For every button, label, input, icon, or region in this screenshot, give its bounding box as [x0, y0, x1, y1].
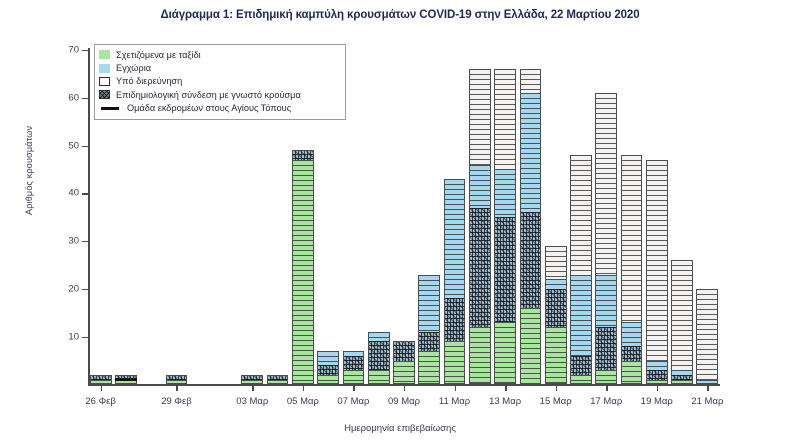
bar-17-Μαρ: [595, 93, 617, 384]
bar-segment-invest: [646, 160, 668, 361]
bar-07-Μαρ: [343, 351, 365, 384]
y-tick: [82, 98, 88, 99]
y-axis-title: Αριθμός κρουσμάτων: [24, 126, 34, 215]
bar-segment-epi: [545, 289, 567, 327]
bar-13-Μαρ: [494, 69, 516, 384]
legend-label-pilgrimage-group: Ομάδα εκδρομέων στους Αγίους Τόπους: [127, 103, 291, 113]
bar-29-Φεβ: [166, 375, 188, 385]
bar-20-Μαρ: [671, 260, 693, 384]
y-tick: [82, 193, 88, 194]
bar-segment-travel: [90, 380, 112, 385]
bar-segment-travel: [241, 380, 263, 385]
x-tick: [303, 386, 304, 391]
y-tick: [82, 337, 88, 338]
bar-segment-epi: [317, 365, 339, 375]
bar-segment-travel: [343, 370, 365, 384]
bar-segment-invest: [494, 69, 516, 169]
y-tick: [82, 50, 88, 51]
bar-16-Μαρ: [570, 155, 592, 384]
bar-segment-domestic: [494, 169, 516, 217]
x-tick-label: 26 Φεβ: [85, 396, 116, 407]
bar-segment-travel: [267, 380, 289, 385]
bar-segment-travel: [166, 380, 188, 385]
bar-segment-domestic: [469, 165, 491, 208]
x-tick-label: 05 Μαρ: [287, 396, 319, 407]
bar-segment-epi: [393, 341, 415, 360]
bar-segment-travel: [469, 327, 491, 384]
x-tick-label: 21 Μαρ: [691, 396, 723, 407]
bar-segment-domestic: [671, 370, 693, 375]
bar-10-Μαρ: [418, 275, 440, 385]
bar-segment-epi: [267, 375, 289, 380]
legend-label-travel: Σχετιζόμενα με ταξίδι: [116, 50, 201, 60]
bar-segment-domestic: [444, 179, 466, 298]
x-tick: [505, 386, 506, 391]
bar-06-Μαρ: [317, 351, 339, 384]
legend-label-domestic: Εγχώρια: [116, 63, 151, 73]
pilgrimage-group-marker-line: [115, 378, 137, 380]
x-tick-label: 11 Μαρ: [439, 396, 470, 407]
legend-item-domestic: Εγχώρια: [99, 61, 340, 74]
bar-segment-domestic: [570, 275, 592, 356]
legend-label-epi-link: Επιδημιολογική σύνδεση με γνωστό κρούσμα: [116, 90, 301, 100]
bar-segment-domestic: [343, 351, 365, 356]
bar-segment-travel: [418, 351, 440, 384]
bar-segment-epi: [671, 375, 693, 380]
bar-segment-epi: [469, 208, 491, 327]
bar-segment-travel: [444, 341, 466, 384]
legend-swatch-epi-link-icon: [99, 90, 110, 99]
x-tick: [176, 386, 177, 391]
bar-segment-epi: [595, 327, 617, 370]
bar-segment-epi: [418, 332, 440, 351]
x-axis-title: Ημερομηνία επιβεβαίωσης: [0, 423, 800, 434]
bar-segment-invest: [595, 93, 617, 275]
bar-21-Μαρ: [696, 289, 718, 385]
y-tick: [82, 241, 88, 242]
bar-segment-domestic: [621, 322, 643, 346]
legend-item-pilgrimage-group: Ομάδα εκδρομέων στους Αγίους Τόπους: [99, 102, 340, 115]
bar-05-Μαρ: [292, 150, 314, 384]
bar-segment-epi: [241, 375, 263, 380]
x-tick: [101, 386, 102, 391]
y-tick-label: 40: [68, 188, 79, 199]
x-tick-label: 15 Μαρ: [540, 396, 572, 407]
bar-segment-invest: [696, 289, 718, 380]
bar-12-Μαρ: [469, 69, 491, 384]
x-tick-label: 13 Μαρ: [489, 396, 521, 407]
bar-08-Μαρ: [368, 332, 390, 385]
bar-segment-travel: [317, 375, 339, 385]
bar-segment-invest: [520, 69, 542, 93]
bar-03-Μαρ: [241, 375, 263, 385]
bar-segment-epi: [166, 375, 188, 380]
bar-19-Μαρ: [646, 160, 668, 385]
y-tick-label: 50: [68, 140, 79, 151]
bar-segment-travel: [545, 327, 567, 384]
x-tick-label: 09 Μαρ: [388, 396, 420, 407]
bar-segment-travel: [520, 308, 542, 384]
legend-label-under-investigation: Υπό διερεύνηση: [116, 76, 182, 86]
bar-segment-domestic: [368, 332, 390, 342]
bar-26-Φεβ: [90, 375, 112, 385]
bar-segment-invest: [570, 155, 592, 274]
bar-segment-travel: [292, 160, 314, 385]
x-tick: [556, 386, 557, 391]
bar-segment-travel: [393, 361, 415, 385]
bar-segment-epi: [646, 370, 668, 380]
bar-14-Μαρ: [520, 69, 542, 384]
x-tick: [606, 386, 607, 391]
legend-swatch-investigation-icon: [99, 77, 110, 86]
bar-segment-domestic: [545, 279, 567, 289]
bar-segment-invest: [469, 69, 491, 165]
y-tick-label: 30: [68, 236, 79, 247]
y-tick-label: 70: [68, 45, 79, 56]
bar-segment-travel: [570, 375, 592, 385]
x-tick: [707, 386, 708, 391]
bar-segment-travel: [646, 380, 668, 385]
bar-segment-epi: [368, 341, 390, 370]
bar-segment-invest: [621, 155, 643, 322]
bar-segment-travel: [621, 361, 643, 385]
bar-segment-travel: [595, 370, 617, 384]
legend-item-epi-link: Επιδημιολογική σύνδεση με γνωστό κρούσμα: [99, 88, 340, 101]
bar-segment-domestic: [595, 275, 617, 328]
bar-segment-invest: [671, 260, 693, 370]
legend-swatch-pilgrimage-line-icon: [101, 104, 119, 113]
bar-09-Μαρ: [393, 341, 415, 384]
y-tick: [82, 289, 88, 290]
bar-segment-travel: [494, 322, 516, 384]
x-tick: [353, 386, 354, 391]
y-axis-line: [88, 48, 90, 386]
legend-item-travel: Σχετιζόμενα με ταξίδι: [99, 48, 340, 61]
bar-segment-epi: [494, 217, 516, 322]
x-tick-label: 29 Φεβ: [161, 396, 192, 407]
x-tick: [404, 386, 405, 391]
bar-segment-epi: [621, 346, 643, 360]
bar-04-Μαρ: [267, 375, 289, 385]
y-tick-label: 10: [68, 331, 79, 342]
bar-segment-epi: [570, 356, 592, 375]
bar-segment-epi: [343, 356, 365, 370]
legend-swatch-domestic-icon: [99, 64, 110, 73]
x-tick-label: 07 Μαρ: [337, 396, 369, 407]
x-tick: [657, 386, 658, 391]
bar-segment-epi: [292, 150, 314, 160]
x-tick-label: 19 Μαρ: [641, 396, 673, 407]
y-tick-label: 60: [68, 92, 79, 103]
bar-segment-epi: [444, 298, 466, 341]
chart-title: Διάγραμμα 1: Επιδημική καμπύλη κρουσμάτω…: [0, 9, 800, 21]
epidemic-curve-chart: Διάγραμμα 1: Επιδημική καμπύλη κρουσμάτω…: [0, 0, 800, 443]
y-tick: [82, 146, 88, 147]
legend-item-under-investigation: Υπό διερεύνηση: [99, 75, 340, 88]
x-tick-label: 17 Μαρ: [590, 396, 622, 407]
bar-segment-epi: [520, 212, 542, 308]
chart-legend: Σχετιζόμενα με ταξίδι Εγχώρια Υπό διερεύ…: [94, 44, 346, 120]
bar-segment-domestic: [317, 351, 339, 365]
legend-swatch-travel-icon: [99, 50, 110, 59]
bar-segment-invest: [545, 246, 567, 279]
bar-segment-travel: [671, 380, 693, 385]
bar-segment-domestic: [646, 361, 668, 371]
x-tick-label: 03 Μαρ: [236, 396, 268, 407]
bar-segment-travel: [368, 370, 390, 384]
y-tick-label: 20: [68, 283, 79, 294]
bar-segment-domestic: [418, 275, 440, 332]
bar-18-Μαρ: [621, 155, 643, 384]
bar-15-Μαρ: [545, 246, 567, 385]
bar-segment-epi: [90, 375, 112, 380]
x-tick: [455, 386, 456, 391]
bar-segment-domestic: [696, 380, 718, 385]
bar-segment-domestic: [520, 93, 542, 212]
x-tick: [252, 386, 253, 391]
bar-11-Μαρ: [444, 179, 466, 384]
